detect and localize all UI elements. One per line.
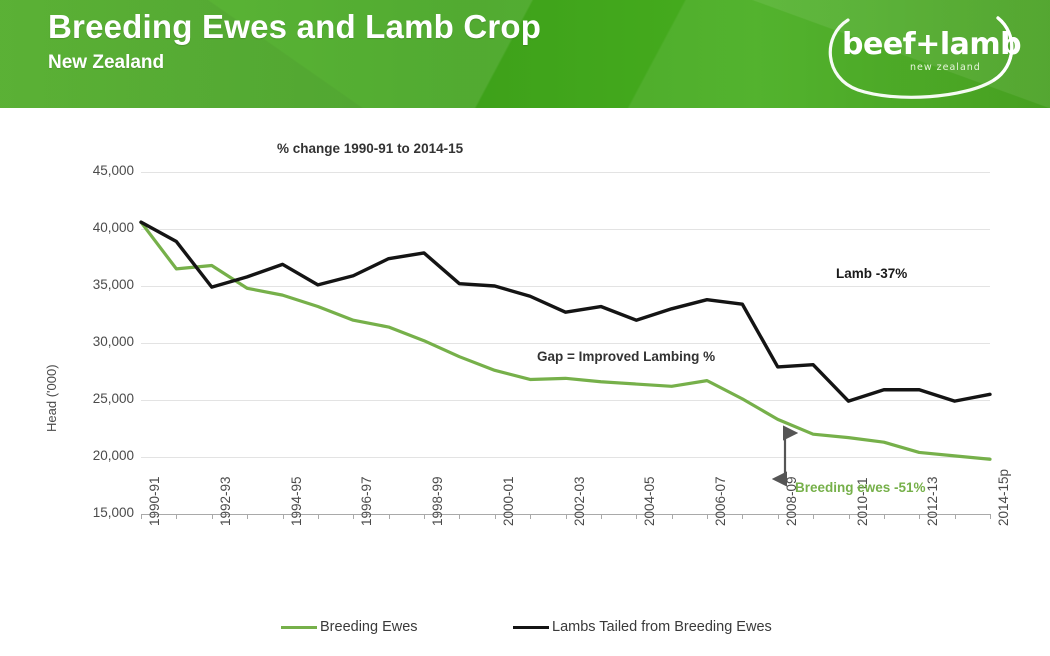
x-axis-tick xyxy=(990,514,991,519)
chart-legend: Breeding Ewes Lambs Tailed from Breeding… xyxy=(0,613,1050,649)
y-axis-labels: 45,00040,00035,00030,00025,00020,00015,0… xyxy=(56,172,134,514)
legend-swatch-breeding-ewes xyxy=(281,626,317,629)
plot-area xyxy=(141,172,990,514)
x-axis-tick-label: 2000-01 xyxy=(501,476,516,526)
page-header: Breeding Ewes and Lamb Crop New Zealand … xyxy=(0,0,1050,108)
legend-item-lambs-tailed[interactable]: Lambs Tailed from Breeding Ewes xyxy=(513,619,772,635)
logo-svg: beef+lamb new zealand xyxy=(818,2,1026,102)
legend-item-breeding-ewes[interactable]: Breeding Ewes xyxy=(281,619,418,635)
x-axis-tick-label: 1992-93 xyxy=(218,476,233,526)
y-axis-tick-label: 20,000 xyxy=(93,448,134,463)
annotation-lamb-change: Lamb -37% xyxy=(836,266,907,281)
x-axis-tick-label: 1998-99 xyxy=(430,476,445,526)
x-axis-tick-label: 2006-07 xyxy=(713,476,728,526)
y-axis-tick-label: 30,000 xyxy=(93,334,134,349)
chart-page: Breeding Ewes and Lamb Crop New Zealand … xyxy=(0,0,1050,656)
annotation-pct-change: % change 1990-91 to 2014-15 xyxy=(277,141,463,156)
x-axis-tick-label: 1990-91 xyxy=(147,476,162,526)
annotation-gap: Gap = Improved Lambing % xyxy=(537,349,715,364)
gap-arrow-icon xyxy=(141,172,990,515)
chart-container: Head ('000) 45,00040,00035,00030,00025,0… xyxy=(0,108,1050,656)
x-axis-tick-label: 2002-03 xyxy=(572,476,587,526)
x-axis-tick-label: 2004-05 xyxy=(642,476,657,526)
x-axis-tick-label: 1994-95 xyxy=(289,476,304,526)
x-axis-tick-label: 1996-97 xyxy=(359,476,374,526)
y-axis-tick-label: 25,000 xyxy=(93,391,134,406)
logo-sub-text: new zealand xyxy=(910,62,981,73)
logo-main-text: beef+lamb xyxy=(842,27,1021,62)
y-axis-tick-label: 40,000 xyxy=(93,220,134,235)
legend-swatch-lambs-tailed xyxy=(513,626,549,629)
page-title: Breeding Ewes and Lamb Crop xyxy=(48,8,541,46)
annotation-ewes-change: Breeding ewes -51% xyxy=(795,480,926,495)
y-axis-tick-label: 15,000 xyxy=(93,505,134,520)
x-axis-tick-label: 2014-15p xyxy=(996,469,1011,526)
y-axis-tick-label: 45,000 xyxy=(93,163,134,178)
legend-label-lambs-tailed: Lambs Tailed from Breeding Ewes xyxy=(552,619,772,635)
page-subtitle: New Zealand xyxy=(48,52,164,74)
beef-lamb-logo: beef+lamb new zealand xyxy=(818,2,1026,102)
legend-label-breeding-ewes: Breeding Ewes xyxy=(320,619,418,635)
x-axis-tick-label: 2012-13 xyxy=(925,476,940,526)
y-axis-tick-label: 35,000 xyxy=(93,277,134,292)
